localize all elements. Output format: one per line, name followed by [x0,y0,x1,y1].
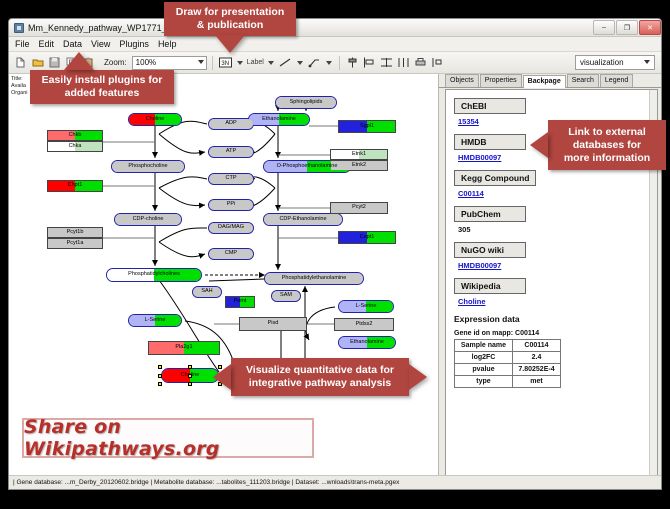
db-section-wikipedia: Wikipedia Choline [454,278,649,306]
db-header-kegg-compound: Kegg Compound [454,170,536,186]
node-label: PPi [227,202,236,208]
db-link-nugo-wiki[interactable]: HMDB00097 [458,261,649,270]
node-label: Sphingolipids [290,100,323,106]
metabolite-node-phosphatidylethanolamine[interactable]: Phosphatidylethanolamine [264,272,364,285]
callout-install-plugins: Easily install plugins for added feature… [30,70,174,104]
toolbar-separator [212,56,213,70]
metabolite-node-sah[interactable]: SAH [192,286,222,298]
tab-search[interactable]: Search [567,74,599,87]
node-label: Choline [146,117,165,123]
node-label: Chpt1 [68,183,83,189]
selection-handle[interactable] [158,382,162,386]
node-label: ADP [225,121,236,127]
db-section-pubchem: PubChem 305 [454,206,649,234]
selection-handle[interactable] [188,374,192,378]
chevron-down-icon [198,60,204,64]
gene-node-cept1[interactable]: Cept1 [338,231,396,244]
metabolite-node-l-serine-right[interactable]: L-Serine [338,300,394,313]
metabolite-node-phosphocholine[interactable]: Phosphocholine [111,160,185,173]
zoom-combobox[interactable]: 100% [132,56,207,70]
metabolite-node-cmp[interactable]: CMP [208,248,254,260]
node-label: Chkb [69,133,82,139]
db-section-kegg: Kegg Compound C00114 [454,170,649,198]
print-icon[interactable] [413,55,428,71]
callout-draw-line1: Draw for presentation [176,6,285,19]
tab-properties[interactable]: Properties [480,74,522,87]
db-value-pubchem: 305 [458,225,649,234]
gene-node-etnk2[interactable]: Etnk2 [330,160,388,171]
app-icon [14,23,24,33]
callout-links-line3: more information [564,152,650,165]
interaction-tool-icon[interactable] [307,55,322,71]
node-label: Etnk2 [352,163,366,169]
node-label: CDP-choline [133,217,164,223]
node-label: Cept1 [360,235,375,241]
node-label: Pemt [234,299,247,305]
expr-key-log2fc: log2FC [455,352,513,364]
minimize-button[interactable]: – [593,20,615,35]
db-header-chebi: ChEBI [454,98,526,114]
table-row: type met [455,376,561,388]
db-header-wikipedia: Wikipedia [454,278,526,294]
db-link-wikipedia[interactable]: Choline [458,297,649,306]
open-icon[interactable] [30,55,45,71]
menu-bar: File Edit Data View Plugins Help [9,37,661,52]
node-label: L-Serine [356,304,377,310]
node-label: Ptdss2 [356,322,373,328]
metabolite-node-sam[interactable]: SAM [271,290,301,302]
node-label: Ethanolamine [350,340,384,346]
title-bar: Mm_Kennedy_pathway_WP1771_45176.gpml – ❐… [9,19,661,37]
callout-draw-line2: & publication [197,19,264,32]
metabolite-node-l-serine-left[interactable]: L-Serine [128,314,182,327]
distribute-vertical-icon[interactable] [379,55,394,71]
metabolite-node-adp[interactable]: ADP [208,118,254,130]
node-label: ATP [226,149,236,155]
new-icon[interactable] [13,55,28,71]
db-header-pubchem: PubChem [454,206,526,222]
label-tool-label[interactable]: Label [247,59,264,66]
node-label: Pla2g1 [175,345,192,351]
status-text: | Gene database: ...m_Derby_20120602.bri… [13,479,399,486]
distribute-horizontal-icon[interactable] [396,55,411,71]
node-label: Pcyt2 [352,205,366,211]
maximize-button[interactable]: ❐ [616,20,638,35]
metabolite-node-atp[interactable]: ATP [208,146,254,158]
chevron-down-icon [644,60,650,64]
gene-node-pcyt1a[interactable]: Pcyt1a [47,238,103,249]
metabolite-node-phosphatidylcholines[interactable]: Phosphatidylcholines [106,268,202,282]
table-row: Sample name C00114 [455,340,561,352]
datanode-dropdown-icon[interactable] [237,61,243,65]
gene-node-chka[interactable]: Chka [47,141,103,152]
selection-handle[interactable] [158,365,162,369]
datanode-icon[interactable]: 3N [218,55,233,71]
db-section-nugo: NuGO wiki HMDB00097 [454,242,649,270]
menu-edit[interactable]: Edit [39,39,55,49]
expression-data-table: Sample name C00114 log2FC 2.4 pvalue 7.8… [454,339,561,388]
callout-plugins-line1: Easily install plugins for [42,74,163,87]
callout-external-databases: Link to external databases for more info… [548,120,666,170]
callout-draw-arrow-icon [215,35,245,53]
callout-visualize-arrow-right-icon [409,364,427,390]
align-center-icon[interactable] [345,55,360,71]
menu-plugins[interactable]: Plugins [119,39,149,49]
svg-text:3N: 3N [221,61,229,67]
window-controls: – ❐ ✕ [592,20,661,35]
metabolite-node-ethanolamine-top[interactable]: Ethanolamine [248,113,310,126]
expr-value-sample-name: C00114 [513,340,561,352]
tab-backpage[interactable]: Backpage [523,75,566,88]
gene-node-pcyt1b[interactable]: Pcyt1b [47,227,103,238]
metabolite-node-choline-top[interactable]: Choline [128,113,182,126]
node-label: SAH [201,289,212,295]
expr-value-type: met [513,376,561,388]
tab-legend[interactable]: Legend [600,74,633,87]
node-label: Phosphocholine [128,164,167,170]
visualization-combobox[interactable]: visualization [575,55,655,70]
node-label: CMP [225,251,237,257]
callout-visualize-quantitative-data: Visualize quantitative data for integrat… [231,358,409,396]
expr-key-pvalue: pvalue [455,364,513,376]
metabolite-node-ctp[interactable]: CTP [208,173,254,185]
callout-plugins-line2: added features [65,87,140,100]
menu-file[interactable]: File [15,39,30,49]
stack-icon[interactable] [430,55,445,71]
expr-key-type: type [455,376,513,388]
gene-node-etnk1[interactable]: Etnk1 [330,149,388,160]
callout-visualize-line1: Visualize quantitative data for [246,364,394,377]
callout-visualize-arrow-left-icon [213,364,231,390]
node-label: Pcyt1a [67,241,84,247]
label-dropdown-icon[interactable] [268,61,274,65]
node-label: Phosphatidylethanolamine [282,276,347,282]
expr-key-sample-name: Sample name [455,340,513,352]
callout-draw-for-publication: Draw for presentation & publication [164,2,296,36]
toolbar-separator-2 [339,56,340,70]
node-label: SAM [280,293,292,299]
menu-view[interactable]: View [91,39,110,49]
node-label: DAG/MAG [218,225,244,231]
gene-node-ptdss2[interactable]: Ptdss2 [334,318,394,331]
interaction-dropdown-icon[interactable] [326,61,332,65]
gene-node-pisd[interactable]: Pisd [239,317,307,331]
node-label: Ethanolamine [262,117,296,123]
tab-objects[interactable]: Objects [445,74,479,87]
zoom-value: 100% [136,58,156,67]
share-banner-text: Share on Wikipathways.org [24,416,312,460]
selection-handle[interactable] [188,382,192,386]
save-icon[interactable] [47,55,62,71]
selection-handle[interactable] [188,365,192,369]
metabolite-node-cdp-ethanolamine[interactable]: CDP-Ethanolamine [263,213,343,226]
node-label: Pisd [268,321,279,327]
gene-node-sgpl1[interactable]: Sgpl1 [338,120,396,133]
node-label: Pcyt1b [67,230,84,236]
callout-plugins-arrow-icon [64,52,94,70]
status-bar: | Gene database: ...m_Derby_20120602.bri… [9,475,661,489]
menu-data[interactable]: Data [63,39,82,49]
db-header-hmdb: HMDB [454,134,526,150]
node-label: CTP [226,176,237,182]
align-left-icon[interactable] [362,55,377,71]
expression-data-title: Expression data [454,314,649,324]
menu-help[interactable]: Help [158,39,177,49]
callout-links-line2: databases for [573,139,641,152]
expr-value-pvalue: 7.80252E-4 [513,364,561,376]
metabolite-node-dagdag[interactable]: DAG/MAG [208,222,254,234]
visualization-value: visualization [580,58,624,67]
zoom-label: Zoom: [104,58,127,67]
selection-handle[interactable] [158,374,162,378]
metabolite-node-sphingolipids[interactable]: Sphingolipids [275,96,337,109]
node-label: Chka [69,144,82,150]
table-row: pvalue 7.80252E-4 [455,364,561,376]
close-button[interactable]: ✕ [639,20,661,35]
metabolite-node-ppi[interactable]: PPi [208,199,254,211]
gene-id-on-mapp: Gene id on mapp: C00114 [454,330,649,337]
node-label: Etnk1 [352,152,366,158]
node-label: O-Phosphoethanolamine [277,164,338,170]
callout-links-line1: Link to external [568,126,646,139]
gene-node-pemt[interactable]: Pemt [225,296,255,308]
db-link-kegg-compound[interactable]: C00114 [458,189,649,198]
node-label: Phosphatidylcholines [128,272,180,278]
side-panel-tabs: Objects Properties Backpage Search Legen… [439,74,661,88]
gene-node-chkb[interactable]: Chkb [47,130,103,141]
gene-node-pla2g1[interactable]: Pla2g1 [148,341,220,355]
expr-value-log2fc: 2.4 [513,352,561,364]
gene-node-pcyt2[interactable]: Pcyt2 [330,202,388,214]
node-label: CDP-Ethanolamine [279,217,326,223]
metabolite-node-cdp-choline[interactable]: CDP-choline [114,213,182,226]
table-row: log2FC 2.4 [455,352,561,364]
line-dropdown-icon[interactable] [297,61,303,65]
node-label: Sgpl1 [360,124,374,130]
node-label: L-Serine [145,318,166,324]
share-banner: Share on Wikipathways.org [22,418,314,458]
db-header-nugo-wiki: NuGO wiki [454,242,526,258]
metabolite-node-ethanolamine-bottom[interactable]: Ethanolamine [338,336,396,349]
callout-visualize-line2: integrative pathway analysis [249,377,391,390]
callout-links-arrow-icon [530,132,548,158]
line-tool-icon[interactable] [278,55,293,71]
gene-node-chpt1[interactable]: Chpt1 [47,180,103,192]
